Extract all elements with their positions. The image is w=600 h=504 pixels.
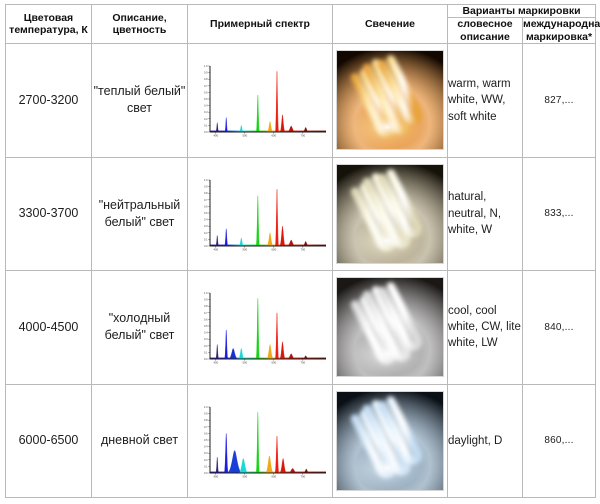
y-tick-label: 1.0 <box>204 178 208 182</box>
spectrum-peak <box>275 436 279 473</box>
x-tick-label: 500 <box>242 361 247 365</box>
spectrum-peak <box>238 349 244 360</box>
header-spectrum: Примерный спектр <box>188 5 333 44</box>
color-temperature-table: Цветовая температура, К Описание, цветно… <box>5 4 596 498</box>
cell-spectrum: 0.00.10.20.30.40.50.60.70.80.91.0 400500… <box>188 157 333 270</box>
spectrum-peak <box>227 450 242 472</box>
spectrum-peak <box>267 233 273 246</box>
y-tick-label: 0.9 <box>204 184 208 188</box>
spectrum-svg: 0.00.10.20.30.40.50.60.70.80.91.0 400500… <box>190 54 330 146</box>
cell-marking-international: 827,... <box>523 44 596 157</box>
table-row: 4000-4500 "холодный белый" свет 0.00.10.… <box>6 271 596 384</box>
table-row: 6000-6500 дневной свет 0.00.10.20.30.40.… <box>6 384 596 497</box>
y-tick-label: 0.0 <box>204 471 208 475</box>
y-tick-label: 0.9 <box>204 411 208 415</box>
table-row: 3300-3700 "нейтральный белый" свет 0.00.… <box>6 157 596 270</box>
spectrum-peak <box>280 226 286 246</box>
spectrum-chart: 0.00.10.20.30.40.50.60.70.80.91.0 400500… <box>190 168 330 260</box>
spectrum-peak <box>280 115 285 132</box>
spectrum-peak <box>303 469 309 473</box>
lamp-svg-0 <box>337 51 443 149</box>
y-tick-label: 0.8 <box>204 304 208 308</box>
y-tick-label: 0.9 <box>204 71 208 75</box>
y-tick-label: 0.4 <box>204 444 208 448</box>
x-tick-label: 700 <box>300 134 305 138</box>
cell-marking-verbal: cool, cool white, CW, lite white, LW <box>448 271 523 384</box>
y-tick-label: 1.0 <box>204 405 208 409</box>
lamp-glow-halo <box>353 332 421 376</box>
y-tick-label: 0.4 <box>204 217 208 221</box>
y-tick-labels: 0.00.10.20.30.40.50.60.70.80.91.0 <box>204 291 210 361</box>
cell-glow <box>333 157 448 270</box>
y-tick-label: 0.7 <box>204 311 208 315</box>
cell-glow <box>333 44 448 157</box>
header-row-top: Цветовая температура, К Описание, цветно… <box>6 5 596 18</box>
spectrum-svg: 0.00.10.20.30.40.50.60.70.80.91.0 400500… <box>190 395 330 487</box>
lamp-photo <box>336 277 444 377</box>
spectrum-peak <box>287 126 295 132</box>
cell-spectrum: 0.00.10.20.30.40.50.60.70.80.91.0 400500… <box>188 384 333 497</box>
x-tick-label: 400 <box>213 134 218 138</box>
x-tick-label: 500 <box>242 247 247 251</box>
cell-spectrum: 0.00.10.20.30.40.50.60.70.80.91.0 400500… <box>188 44 333 157</box>
y-tick-label: 0.6 <box>204 318 208 322</box>
lamp-photo <box>336 50 444 150</box>
y-tick-label: 0.3 <box>204 111 208 115</box>
y-tick-label: 0.0 <box>204 357 208 361</box>
y-tick-label: 0.4 <box>204 331 208 335</box>
y-tick-label: 0.2 <box>204 344 208 348</box>
y-tick-labels: 0.00.10.20.30.40.50.60.70.80.91.0 <box>204 405 210 475</box>
y-tick-label: 0.6 <box>204 204 208 208</box>
spectrum-peak <box>229 349 238 360</box>
y-tick-label: 0.0 <box>204 244 208 248</box>
spectrum-peak <box>303 241 309 246</box>
x-tick-labels: 400500600700 <box>213 473 305 479</box>
spectrum-peak <box>224 433 228 473</box>
cell-glow <box>333 384 448 497</box>
y-tick-label: 0.2 <box>204 231 208 235</box>
lamp-svg-1 <box>337 165 443 263</box>
y-tick-label: 0.5 <box>204 211 208 215</box>
x-tick-labels: 400500600700 <box>213 359 305 365</box>
spectrum-peak <box>267 345 274 360</box>
header-description: Описание, цветность <box>92 5 188 44</box>
cell-description: "теплый белый" свет <box>92 44 188 157</box>
y-tick-label: 0.1 <box>204 464 208 468</box>
spectrum-peak <box>256 196 259 246</box>
spectrum-peaks-3 <box>210 412 326 473</box>
spectrum-peak <box>280 342 286 359</box>
spectrum-peaks-0 <box>210 72 326 133</box>
x-tick-label: 500 <box>242 134 247 138</box>
x-tick-label: 700 <box>300 361 305 365</box>
x-tick-label: 400 <box>213 247 218 251</box>
table-row: 2700-3200 "теплый белый" свет 0.00.10.20… <box>6 44 596 157</box>
x-tick-label: 600 <box>271 134 276 138</box>
header-marking-verbal: словесное описание <box>448 18 523 44</box>
y-tick-label: 0.5 <box>204 324 208 328</box>
spectrum-chart: 0.00.10.20.30.40.50.60.70.80.91.0 400500… <box>190 395 330 487</box>
lamp-svg-2 <box>337 278 443 376</box>
y-tick-label: 0.9 <box>204 298 208 302</box>
x-tick-label: 600 <box>271 474 276 478</box>
cell-description: "нейтральный белый" свет <box>92 157 188 270</box>
lamp-photo <box>336 391 444 491</box>
spectrum-peak <box>216 235 219 246</box>
lamp-glow-halo <box>353 105 421 149</box>
spectrum-peak <box>280 458 287 473</box>
spectrum-peak <box>225 229 228 246</box>
spectrum-peak <box>265 456 273 473</box>
lamp-glow-halo <box>353 446 421 490</box>
y-tick-label: 0.6 <box>204 431 208 435</box>
y-tick-label: 0.2 <box>204 458 208 462</box>
y-tick-label: 0.1 <box>204 351 208 355</box>
y-tick-label: 0.8 <box>204 418 208 422</box>
cell-marking-verbal: warm, warm white, WW, soft white <box>448 44 523 157</box>
y-tick-label: 0.7 <box>204 198 208 202</box>
y-tick-label: 0.3 <box>204 451 208 455</box>
y-tick-label: 0.5 <box>204 438 208 442</box>
spectrum-peak <box>239 126 243 133</box>
spectrum-peak <box>225 118 228 133</box>
cell-temperature: 2700-3200 <box>6 44 92 157</box>
cell-marking-verbal: daylight, D <box>448 384 523 497</box>
x-tick-label: 600 <box>271 247 276 251</box>
spectrum-peaks-2 <box>210 299 326 360</box>
spectrum-svg: 0.00.10.20.30.40.50.60.70.80.91.0 400500… <box>190 281 330 373</box>
header-marking-international: международная маркировка* <box>523 18 596 44</box>
spectrum-peak <box>275 189 278 246</box>
lamp-svg-3 <box>337 392 443 490</box>
y-tick-label: 0.0 <box>204 130 208 134</box>
y-tick-label: 1.0 <box>204 64 208 68</box>
y-tick-label: 0.7 <box>204 425 208 429</box>
x-tick-label: 700 <box>300 247 305 251</box>
spectrum-chart: 0.00.10.20.30.40.50.60.70.80.91.0 400500… <box>190 54 330 146</box>
spectrum-peak <box>216 345 219 360</box>
spectrum-peak <box>225 330 228 359</box>
y-tick-label: 0.4 <box>204 104 208 108</box>
y-tick-label: 0.7 <box>204 84 208 88</box>
cell-temperature: 6000-6500 <box>6 384 92 497</box>
x-tick-label: 700 <box>300 474 305 478</box>
lamp-photo <box>336 164 444 264</box>
spectrum-peak <box>256 412 259 473</box>
spectrum-peak <box>287 354 295 359</box>
cell-marking-verbal: hatural, neutral, N, white, W <box>448 157 523 270</box>
spectrum-peak <box>216 457 219 473</box>
y-tick-label: 0.3 <box>204 224 208 228</box>
y-tick-labels: 0.00.10.20.30.40.50.60.70.80.91.0 <box>204 64 210 134</box>
cell-description: дневной свет <box>92 384 188 497</box>
header-temperature: Цветовая температура, К <box>6 5 92 44</box>
spectrum-peak <box>275 72 278 133</box>
spectrum-peak <box>275 313 278 359</box>
spectrum-peak <box>303 128 309 133</box>
cct-table-sheet: Цветовая температура, К Описание, цветно… <box>0 0 600 504</box>
x-tick-label: 500 <box>242 474 247 478</box>
x-tick-label: 600 <box>271 361 276 365</box>
spectrum-peak <box>256 299 259 360</box>
spectrum-peak <box>216 123 219 132</box>
header-marking-group: Варианты маркировки <box>448 5 596 18</box>
spectrum-peak <box>256 95 259 132</box>
cell-glow <box>333 271 448 384</box>
spectrum-peaks-1 <box>210 189 326 246</box>
cell-temperature: 3300-3700 <box>6 157 92 270</box>
x-tick-labels: 400500600700 <box>213 246 305 252</box>
cell-marking-international: 860,... <box>523 384 596 497</box>
cell-spectrum: 0.00.10.20.30.40.50.60.70.80.91.0 400500… <box>188 271 333 384</box>
cell-marking-international: 840,... <box>523 271 596 384</box>
x-tick-label: 400 <box>213 361 218 365</box>
y-tick-label: 0.1 <box>204 237 208 241</box>
y-tick-label: 1.0 <box>204 291 208 295</box>
cell-description: "холодный белый" свет <box>92 271 188 384</box>
spectrum-chart: 0.00.10.20.30.40.50.60.70.80.91.0 400500… <box>190 281 330 373</box>
header-glow: Свечение <box>333 5 448 44</box>
spectrum-peak <box>287 240 295 246</box>
cell-temperature: 4000-4500 <box>6 271 92 384</box>
spectrum-peak <box>288 468 297 473</box>
x-tick-labels: 400500600700 <box>213 132 305 138</box>
y-tick-label: 0.6 <box>204 91 208 95</box>
lamp-glow-halo <box>353 219 421 263</box>
table-body: 2700-3200 "теплый белый" свет 0.00.10.20… <box>6 44 596 498</box>
y-tick-label: 0.5 <box>204 97 208 101</box>
y-tick-label: 0.3 <box>204 337 208 341</box>
y-tick-labels: 0.00.10.20.30.40.50.60.70.80.91.0 <box>204 178 210 248</box>
spectrum-peak <box>239 238 244 246</box>
x-tick-label: 400 <box>213 474 218 478</box>
cell-marking-international: 833,... <box>523 157 596 270</box>
spectrum-svg: 0.00.10.20.30.40.50.60.70.80.91.0 400500… <box>190 168 330 260</box>
spectrum-peak <box>267 122 273 133</box>
y-tick-label: 0.2 <box>204 117 208 121</box>
y-tick-label: 0.1 <box>204 124 208 128</box>
y-tick-label: 0.8 <box>204 191 208 195</box>
table-header: Цветовая температура, К Описание, цветно… <box>6 5 596 44</box>
y-tick-label: 0.8 <box>204 78 208 82</box>
